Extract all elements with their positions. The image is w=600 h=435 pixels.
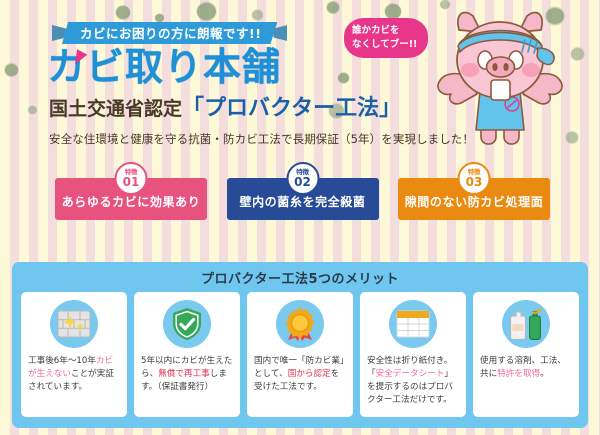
merit-card[interactable]: 使用する溶剤、工法、共に特許を取得。 xyxy=(473,292,579,417)
feature-badge-01[interactable]: 特徴 01 あらゆるカビに効果あり xyxy=(55,178,207,220)
feature-number-03: 03 xyxy=(466,176,483,188)
merits-panel: プロバクター工法5つのメリット 工事後6年～10年カビが生えないことが実証されて… xyxy=(12,262,588,428)
merit-card-text: 5年以内にカビが生えたら、無償で再工事します。（保証書発行） xyxy=(141,355,233,394)
merit-card-list: 工事後6年～10年カビが生えないことが実証されています。 5年以内にカビが生えた… xyxy=(12,292,588,417)
ribbon-text: カビにお困りの方に朗報です!! xyxy=(62,22,277,44)
mold-splatter-icon xyxy=(116,6,130,19)
spray-bottles-icon xyxy=(502,300,550,348)
merit-card-text: 安全性は折り紙付き。「安全データシート」を提示するのはプロバクター工法だけです。 xyxy=(367,355,459,407)
lead-text: 安全な住環境と健康を守る抗菌・防カビ工法で長期保証（5年）を実現しました！ xyxy=(49,131,474,147)
award-medal-icon xyxy=(276,300,324,348)
merit-card-text: 国内で唯一「防カビ業」として、国から認定を受けた工法です。 xyxy=(254,355,346,394)
speech-bubble-text: 誰かカビを なくしてブー!! xyxy=(352,24,424,52)
mold-splatter-icon xyxy=(327,2,339,13)
feature-badge-02[interactable]: 特徴 02 壁内の菌糸を完全殺菌 xyxy=(227,178,379,220)
mold-splatter-icon xyxy=(155,14,164,22)
sub-title: 国土交通省認定「プロバクター工法」 xyxy=(49,98,401,120)
speech-bubble-tail xyxy=(75,49,88,65)
merit-card[interactable]: 工事後6年～10年カビが生えないことが実証されています。 xyxy=(21,292,127,417)
feature-circle-01: 特徴 01 xyxy=(115,162,148,195)
page-root: カビにお困りの方に朗報です!! カビ取り本舗 国土交通省認定「プロバクター工法」… xyxy=(0,0,600,435)
pig-mascot-icon xyxy=(425,4,575,164)
merit-text-highlight: 国から認定 xyxy=(288,369,331,379)
sub-title-certification: 国土交通省認定 xyxy=(49,98,182,120)
ribbon-banner: カビにお困りの方に朗報です!! xyxy=(52,22,287,44)
brick-wall-sparkle-icon xyxy=(50,300,98,348)
merit-text-part: 工事後6年～10年 xyxy=(28,356,96,366)
shield-check-icon xyxy=(163,300,211,348)
mold-splatter-icon xyxy=(28,106,37,114)
merit-text-highlight: 特許を取得 xyxy=(497,369,540,379)
merit-card-text: 使用する溶剤、工法、共に特許を取得。 xyxy=(480,355,572,381)
speech-bubble-line-2: なくしてブー!! xyxy=(352,38,424,52)
feature-label-01: あらゆるカビに効果あり xyxy=(62,193,201,210)
merit-text-part: 。 xyxy=(540,369,549,379)
mold-splatter-icon xyxy=(5,64,18,76)
feature-label-02: 壁内の菌糸を完全殺菌 xyxy=(239,193,365,210)
mold-splatter-icon xyxy=(338,73,349,83)
data-sheet-icon xyxy=(389,300,437,348)
feature-circle-03: 特徴 03 xyxy=(458,162,491,195)
merit-card-text: 工事後6年～10年カビが生えないことが実証されています。 xyxy=(28,355,120,394)
mold-splatter-icon xyxy=(252,10,263,20)
merits-heading: プロバクター工法5つのメリット xyxy=(12,262,588,292)
merit-card[interactable]: 5年以内にカビが生えたら、無償で再工事します。（保証書発行） xyxy=(134,292,240,417)
merit-card[interactable]: 国内で唯一「防カビ業」として、国から認定を受けた工法です。 xyxy=(247,292,353,417)
mold-splatter-icon xyxy=(197,3,216,20)
feature-number-02: 02 xyxy=(294,176,311,188)
feature-label-03: 隙間のない防カビ処理面 xyxy=(405,193,544,210)
feature-badge-03[interactable]: 特徴 03 隙間のない防カビ処理面 xyxy=(398,178,550,220)
feature-circle-02: 特徴 02 xyxy=(286,162,319,195)
merit-card[interactable]: 安全性は折り紙付き。「安全データシート」を提示するのはプロバクター工法だけです。 xyxy=(360,292,466,417)
feature-badges: 特徴 01 あらゆるカビに効果あり 特徴 02 壁内の菌糸を完全殺菌 特徴 03… xyxy=(55,178,550,223)
feature-number-01: 01 xyxy=(123,176,140,188)
merit-text-highlight: 無償で再工事 xyxy=(158,369,210,379)
sub-title-method: 「プロバクター工法」 xyxy=(182,96,401,121)
merit-text-highlight: 安全データシート xyxy=(376,369,445,379)
mold-splatter-icon xyxy=(385,4,401,19)
speech-bubble-line-1: 誰かカビを xyxy=(352,24,424,38)
